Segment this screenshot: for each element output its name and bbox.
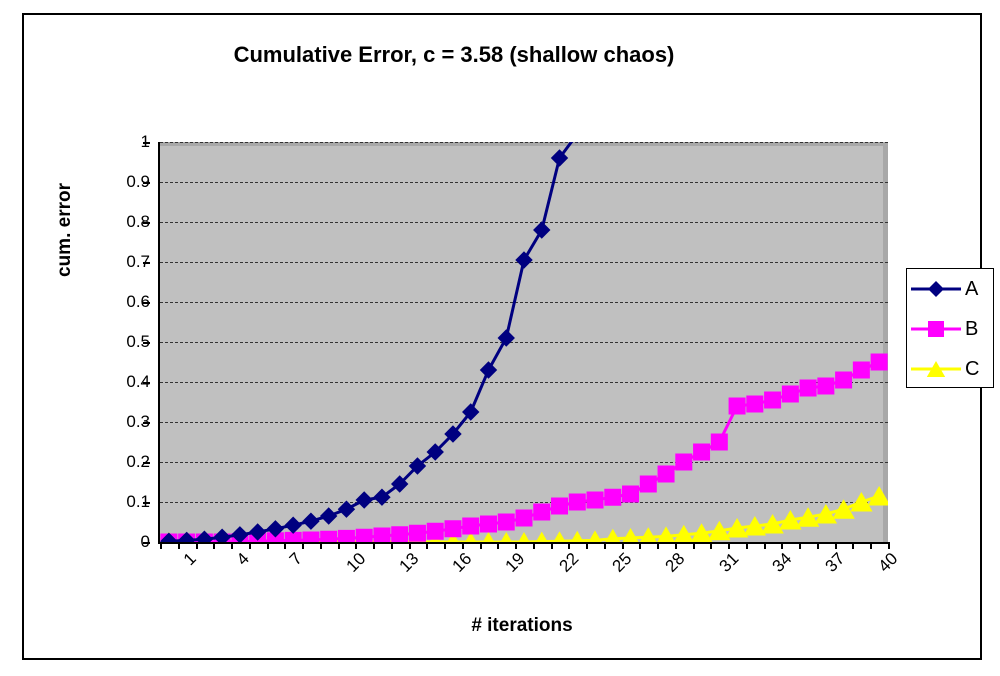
data-point (214, 529, 230, 545)
data-point (338, 530, 354, 546)
x-tick-mark (320, 542, 322, 549)
data-point (694, 444, 710, 460)
data-point (338, 501, 354, 517)
diamond-marker-icon (924, 277, 948, 301)
x-tick-mark (675, 542, 677, 549)
x-tick-label: 37 (822, 549, 850, 577)
y-tick-mark (143, 262, 150, 264)
x-tick-mark (249, 542, 251, 549)
x-axis-tick-labels: 1471013161922252831343740 (158, 549, 898, 609)
legend-swatch-diamond-icon (909, 277, 963, 301)
x-tick-label: 25 (609, 549, 637, 577)
legend-label: B (965, 318, 978, 341)
data-point (853, 362, 869, 378)
x-tick-mark (746, 542, 748, 549)
x-tick-mark (160, 542, 162, 549)
x-tick-mark (586, 542, 588, 549)
x-tick-mark (480, 542, 482, 549)
x-tick-mark (284, 542, 286, 549)
legend-item-b[interactable]: B (907, 309, 993, 349)
x-tick-mark (852, 542, 854, 549)
y-tick-label: 0.6 (40, 292, 150, 312)
data-point (480, 362, 496, 378)
x-tick-mark (213, 542, 215, 549)
data-point (303, 513, 319, 529)
y-tick-mark (143, 142, 150, 144)
x-tick-label: 13 (395, 549, 423, 577)
data-point (587, 492, 603, 508)
data-point (818, 378, 834, 394)
x-tick-mark (196, 542, 198, 549)
data-point (303, 532, 319, 548)
x-tick-label: 22 (555, 549, 583, 577)
data-point (321, 531, 337, 547)
x-tick-label: 40 (875, 549, 903, 577)
data-point (356, 492, 372, 508)
y-tick-mark (143, 422, 150, 424)
data-point (498, 330, 514, 346)
x-tick-mark (426, 542, 428, 549)
y-tick-mark (143, 502, 150, 504)
data-point (747, 396, 763, 412)
series-a (161, 126, 585, 549)
data-point (534, 222, 550, 238)
x-tick-mark (870, 542, 872, 549)
x-tick-label: 16 (449, 549, 477, 577)
data-point (321, 508, 337, 524)
x-tick-mark (231, 542, 233, 549)
y-tick-label: 0.5 (40, 332, 150, 352)
legend-swatch-triangle-icon (909, 357, 963, 381)
data-point (534, 504, 550, 520)
x-tick-mark (888, 542, 890, 549)
x-tick-mark (835, 542, 837, 549)
x-tick-label: 34 (768, 549, 796, 577)
series-line-a (169, 134, 577, 541)
y-tick-label: 0.8 (40, 212, 150, 232)
x-tick-mark (817, 542, 819, 549)
data-point (869, 487, 890, 505)
y-tick-mark (143, 382, 150, 384)
y-tick-mark (143, 342, 150, 344)
x-tick-mark (338, 542, 340, 549)
x-tick-mark (267, 542, 269, 549)
data-point (833, 500, 854, 518)
chart-frame: Cumulative Error, c = 3.58 (shallow chao… (22, 13, 982, 660)
legend-item-a[interactable]: A (907, 269, 993, 309)
data-point (285, 517, 301, 533)
data-point (640, 476, 656, 492)
data-point (445, 521, 461, 537)
y-tick-label: 0.4 (40, 372, 150, 392)
data-point (871, 354, 887, 370)
x-tick-mark (710, 542, 712, 549)
x-tick-mark (444, 542, 446, 549)
legend-label: A (965, 278, 978, 301)
data-point (498, 514, 514, 530)
data-point (800, 380, 816, 396)
y-tick-label: 0.9 (40, 172, 150, 192)
data-point (392, 527, 408, 543)
data-point (552, 498, 568, 514)
x-tick-mark (178, 542, 180, 549)
y-tick-mark (143, 462, 150, 464)
y-tick-mark (143, 222, 150, 224)
x-tick-label: 31 (715, 549, 743, 577)
x-tick-mark (462, 542, 464, 549)
legend-swatch-square-icon (909, 317, 963, 341)
x-tick-label: 7 (286, 549, 307, 570)
data-point (676, 454, 692, 470)
x-tick-label: 4 (233, 549, 254, 570)
data-point (463, 518, 479, 534)
data-point (569, 126, 585, 142)
x-tick-mark (622, 542, 624, 549)
x-tick-mark (497, 542, 499, 549)
data-point (851, 493, 872, 511)
triangle-marker-icon (924, 357, 948, 381)
data-point (658, 466, 674, 482)
x-tick-mark (515, 542, 517, 549)
x-tick-mark (604, 542, 606, 549)
y-tick-mark (143, 542, 150, 544)
data-point (782, 386, 798, 402)
legend-item-c[interactable]: C (907, 349, 993, 389)
square-marker-icon (924, 317, 948, 341)
y-tick-label: 0.1 (40, 492, 150, 512)
data-point (765, 392, 781, 408)
data-point (569, 494, 585, 510)
data-point (605, 489, 621, 505)
legend-label: C (965, 358, 979, 381)
data-point (480, 516, 496, 532)
y-tick-mark (143, 302, 150, 304)
y-tick-label: 0.2 (40, 452, 150, 472)
x-tick-mark (657, 542, 659, 549)
y-tick-label: 1 (40, 132, 150, 152)
x-tick-label: 10 (342, 549, 370, 577)
data-point (356, 529, 372, 545)
x-tick-mark (391, 542, 393, 549)
chart-page: Cumulative Error, c = 3.58 (shallow chao… (0, 0, 1000, 676)
data-point (623, 486, 639, 502)
chart-legend: ABC (906, 268, 994, 388)
x-tick-mark (302, 542, 304, 549)
series-b (161, 354, 887, 550)
x-tick-mark (551, 542, 553, 549)
x-tick-mark (373, 542, 375, 549)
data-point (836, 372, 852, 388)
data-point (374, 528, 390, 544)
data-point (516, 252, 532, 268)
y-tick-mark (143, 182, 150, 184)
data-point (285, 532, 301, 548)
x-tick-label: 1 (180, 549, 201, 570)
x-tick-mark (409, 542, 411, 549)
x-tick-mark (639, 542, 641, 549)
x-tick-mark (693, 542, 695, 549)
data-point (711, 434, 727, 450)
y-tick-label: 0.7 (40, 252, 150, 272)
series-plot (160, 142, 888, 542)
data-point (516, 510, 532, 526)
x-tick-mark (764, 542, 766, 549)
x-tick-label: 19 (502, 549, 530, 577)
chart-title: Cumulative Error, c = 3.58 (shallow chao… (24, 42, 884, 68)
data-point (427, 523, 443, 539)
y-tick-label: 0.3 (40, 412, 150, 432)
y-tick-label: 0 (40, 532, 150, 552)
data-point (729, 398, 745, 414)
x-tick-mark (533, 542, 535, 549)
data-point (409, 525, 425, 541)
x-tick-mark (799, 542, 801, 549)
y-axis-tick-labels: 00.10.20.30.40.50.60.70.80.91 (32, 142, 150, 542)
x-axis-title: # iterations (158, 615, 886, 637)
x-tick-label: 28 (662, 549, 690, 577)
plot-area (158, 142, 888, 544)
